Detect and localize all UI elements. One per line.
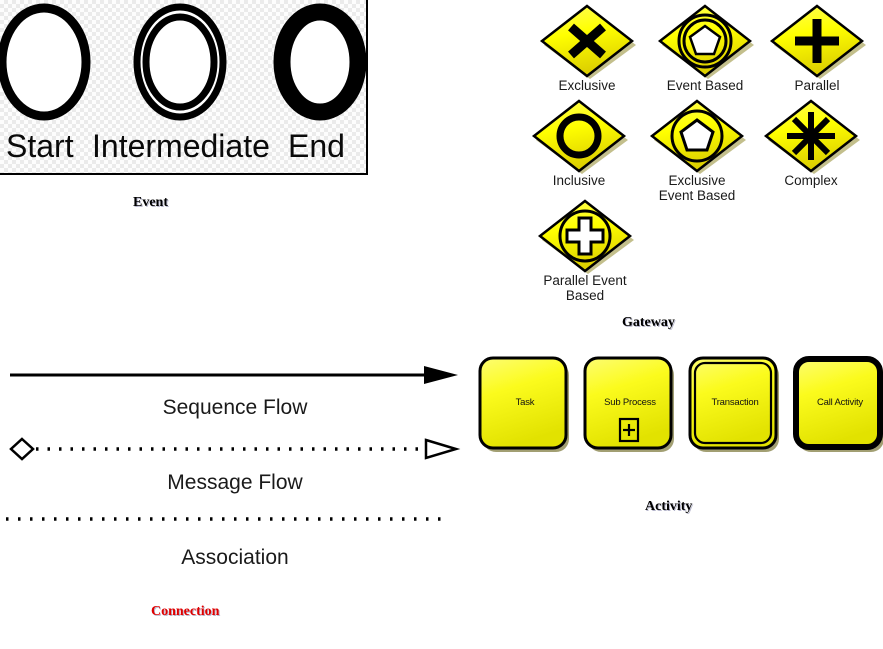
gateway-cell-exclusive[interactable]: Exclusive [528,2,646,93]
gateway-cell-parallel-event-based[interactable]: Parallel Event Based [526,197,644,303]
gateway-complex-icon [759,97,863,175]
gateway-cell-exclusive-event-based[interactable]: Exclusive Event Based [638,97,756,203]
activity-section-label: Activity [645,499,692,515]
gateway-event-based-icon [653,2,757,80]
gateway-label-parallel: Parallel [758,78,876,93]
connection-group: Sequence Flow Message Flow Association [0,352,470,642]
gateway-cell-complex[interactable]: Complex [752,97,870,188]
gateway-label-event-based: Event Based [646,78,764,93]
gateway-parallel-icon [765,2,869,80]
end-event-icon [282,12,358,112]
gateway-label-exclusive-event-based: Exclusive Event Based [638,173,756,203]
event-item-label-start: Start [6,128,74,165]
gateway-exclusive-icon [535,2,639,80]
activity-cell-sub-process[interactable]: Sub Process [582,355,678,457]
activity-cell-transaction[interactable]: Transaction [687,355,783,457]
gateway-section-label: Gateway [622,315,675,331]
activity-transaction-icon [687,355,783,457]
connection-label-sequence-flow: Sequence Flow [0,396,470,420]
intermediate-event-icon [137,7,223,117]
gateway-exclusive-event-based-icon [645,97,749,175]
gateway-label-exclusive: Exclusive [528,78,646,93]
gateway-group: Exclusive Event Based [520,0,883,340]
gateway-parallel-event-based-icon [533,197,637,275]
gateway-cell-parallel[interactable]: Parallel [758,2,876,93]
gateway-cell-event-based[interactable]: Event Based [646,2,764,93]
start-event-icon [2,8,86,116]
event-item-label-intermediate: Intermediate [92,128,270,165]
message-flow-icon [8,434,463,464]
association-icon [4,512,459,526]
bpmn-notation-canvas: Start Intermediate End Event [0,0,883,649]
connection-section-label: Connection [151,604,219,620]
activity-task-icon [477,355,573,457]
connection-label-association: Association [0,546,470,570]
gateway-label-parallel-event-based: Parallel Event Based [526,273,644,303]
event-item-label-end: End [288,128,345,165]
event-panel: Start Intermediate End [0,0,368,175]
gateway-label-inclusive: Inclusive [520,173,638,188]
activity-sub-process-icon [582,355,678,457]
activity-cell-call-activity[interactable]: Call Activity [792,355,883,457]
gateway-cell-inclusive[interactable]: Inclusive [520,97,638,188]
activity-call-activity-icon [792,355,883,457]
activity-cell-task[interactable]: Task [477,355,573,457]
sequence-flow-icon [8,360,463,390]
event-section-label: Event [133,195,168,211]
gateway-label-complex: Complex [752,173,870,188]
gateway-inclusive-icon [527,97,631,175]
connection-label-message-flow: Message Flow [0,471,470,495]
